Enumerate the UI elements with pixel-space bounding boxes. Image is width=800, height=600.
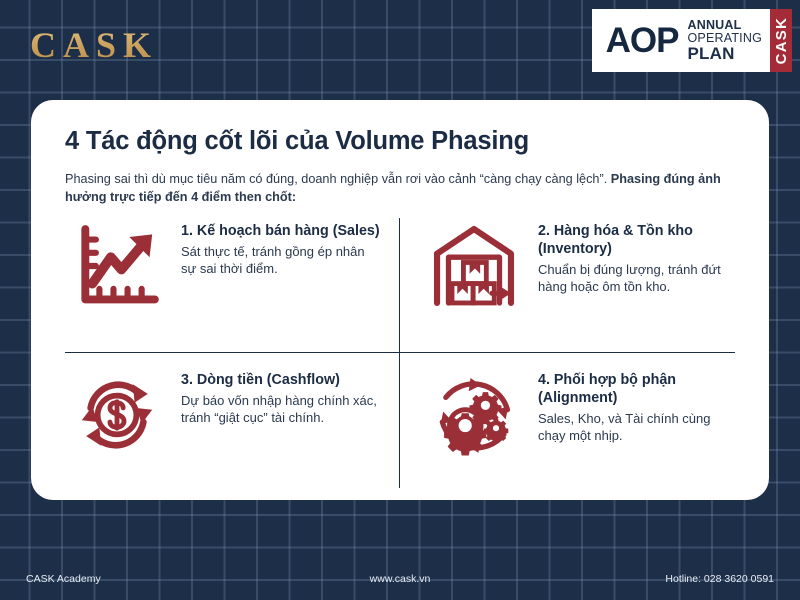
quadrant-body: Sát thực tế, tránh gồng ép nhân sự sai t… <box>181 243 381 278</box>
warehouse-boxes-icon <box>422 220 526 310</box>
quadrant-body: Sales, Kho, và Tài chính cùng chạy một n… <box>538 410 735 445</box>
quadrant-inventory-text: 2. Hàng hóa & Tồn kho (Inventory) Chuẩn … <box>538 220 735 296</box>
quadrant-cashflow-text: 3. Dòng tiền (Cashflow) Dự báo vốn nhập … <box>181 369 381 427</box>
aop-logo-main: AOP ANNUAL OPERATING PLAN <box>592 9 770 72</box>
quadrant-inventory: 2. Hàng hóa & Tồn kho (Inventory) Chuẩn … <box>400 218 735 353</box>
quadrant-alignment: 4. Phối hợp bộ phận (Alignment) Sales, K… <box>400 353 735 488</box>
gears-alignment-icon <box>422 369 526 459</box>
growth-chart-icon <box>65 220 169 310</box>
quadrant-sales-text: 1. Kế hoạch bán hàng (Sales) Sát thực tế… <box>181 220 381 278</box>
quadrant-heading: 1. Kế hoạch bán hàng (Sales) <box>181 222 381 240</box>
aop-red-strip: CASK <box>770 9 792 72</box>
quadrant-cashflow: 3. Dòng tiền (Cashflow) Dự báo vốn nhập … <box>65 353 400 488</box>
quadrant-sales: 1. Kế hoạch bán hàng (Sales) Sát thực tế… <box>65 218 400 353</box>
footer-website[interactable]: www.cask.vn <box>370 573 431 585</box>
aop-subtitle-stack: ANNUAL OPERATING PLAN <box>688 19 763 62</box>
aop-logo: AOP ANNUAL OPERATING PLAN CASK <box>592 9 792 72</box>
quadrant-heading: 2. Hàng hóa & Tồn kho (Inventory) <box>538 222 735 258</box>
quadrant-heading: 4. Phối hợp bộ phận (Alignment) <box>538 371 735 407</box>
page-subtitle: Phasing sai thì dù mục tiêu năm có đúng,… <box>65 170 735 207</box>
quadrant-heading: 3. Dòng tiền (Cashflow) <box>181 371 381 389</box>
cask-logo: CASK <box>30 24 158 66</box>
quadrant-body: Chuẩn bị đúng lượng, tránh đứt hàng hoặc… <box>538 261 735 296</box>
aop-acronym: AOP <box>606 23 679 58</box>
quadrant-grid: 1. Kế hoạch bán hàng (Sales) Sát thực tế… <box>65 218 735 488</box>
page-header: CASK AOP ANNUAL OPERATING PLAN CASK <box>0 0 800 95</box>
aop-strip-label: CASK <box>773 17 790 64</box>
aop-line-plan: PLAN <box>688 45 763 62</box>
page-title: 4 Tác động cốt lõi của Volume Phasing <box>65 126 735 157</box>
aop-line-annual: ANNUAL <box>688 19 763 32</box>
page-footer: CASK Academy www.cask.vn Hotline: 028 36… <box>0 558 800 600</box>
quadrant-alignment-text: 4. Phối hợp bộ phận (Alignment) Sales, K… <box>538 369 735 445</box>
quadrant-body: Dự báo vốn nhập hàng chính xác, tránh “g… <box>181 392 381 427</box>
footer-hotline: Hotline: 028 3620 0591 <box>665 573 774 585</box>
content-card: 4 Tác động cốt lõi của Volume Phasing Ph… <box>31 100 769 500</box>
subtitle-regular-part: Phasing sai thì dù mục tiêu năm có đúng,… <box>65 172 611 186</box>
aop-line-operating: OPERATING <box>688 32 763 45</box>
footer-brand: CASK Academy <box>26 573 101 585</box>
cashflow-dollar-cycle-icon <box>65 369 169 459</box>
